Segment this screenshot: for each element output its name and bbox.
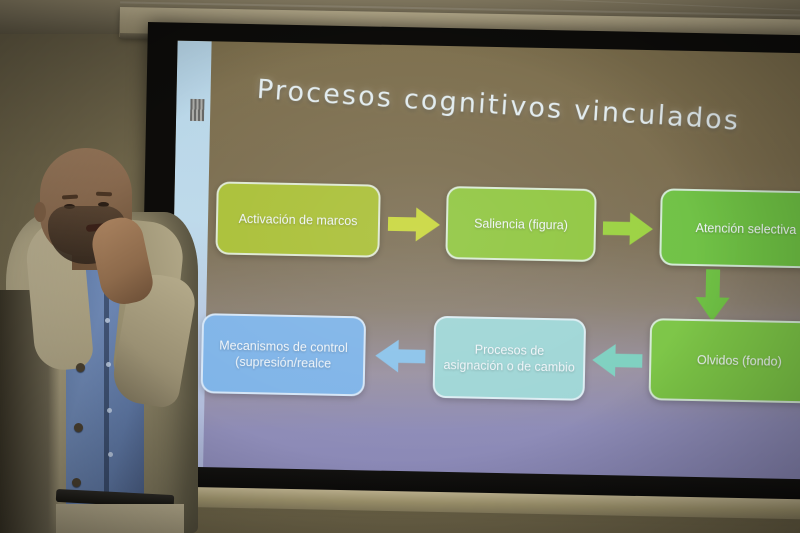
flow-node-label: Mecanismos de control (supresión/realce <box>211 337 356 372</box>
flow-node-olvidos: Olvidos (fondo) <box>649 318 800 404</box>
shirt-button <box>108 452 113 457</box>
flow-node-label: Saliencia (figura) <box>474 215 568 233</box>
presenter-brow <box>96 192 112 197</box>
flow-node-label: Olvidos (fondo) <box>697 352 782 370</box>
jacket-button <box>72 478 81 487</box>
presenter-ear <box>34 202 46 222</box>
flow-node-atencion: Atención selectiva <box>659 188 800 268</box>
shirt-button <box>105 318 110 323</box>
jacket-button <box>74 423 83 432</box>
arrow-saliencia-atencion-icon <box>603 211 654 246</box>
shirt-button <box>107 408 112 413</box>
flow-node-label: Atención selectiva <box>695 220 796 238</box>
lecture-photo: Procesos cognitivos vinculados Activació… <box>0 0 800 533</box>
flow-node-saliencia: Saliencia (figura) <box>445 186 596 262</box>
arrow-olvidos-procesos-icon <box>592 343 643 378</box>
flow-node-label: Procesos de asignación o de cambio <box>443 341 576 376</box>
presenter <box>0 140 210 533</box>
arrow-atencion-olvidos-icon <box>694 269 731 322</box>
projection-screen-frame: Procesos cognitivos vinculados Activació… <box>139 22 800 505</box>
flow-node-label: Activación de marcos <box>239 210 358 228</box>
flow-node-procesos: Procesos de asignación o de cambio <box>433 316 587 401</box>
flowchart: Activación de marcos Saliencia (figura) … <box>169 41 800 499</box>
arrow-procesos-mecanismos-icon <box>375 339 426 374</box>
jacket-button <box>76 363 85 372</box>
flow-node-mecanismos: Mecanismos de control (supresión/realce <box>201 313 367 396</box>
flow-node-activacion: Activación de marcos <box>215 181 380 257</box>
presenter-trousers <box>56 504 184 533</box>
presentation-slide: Procesos cognitivos vinculados Activació… <box>169 41 800 499</box>
shirt-button <box>106 362 111 367</box>
arrow-activacion-saliencia-icon <box>388 207 441 242</box>
